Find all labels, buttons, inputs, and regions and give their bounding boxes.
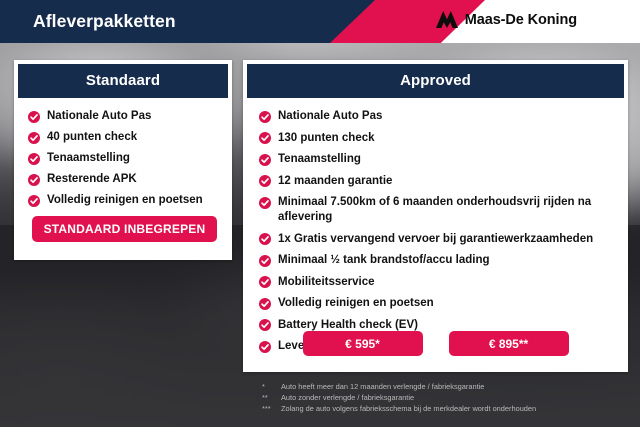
check-circle-icon [259, 132, 271, 144]
list-item: 12 maanden garantie [259, 174, 628, 189]
list-item: Volledig reinigen en poetsen [259, 296, 628, 311]
check-circle-icon [28, 111, 40, 123]
feature-label: Volledig reinigen en poetsen [47, 193, 203, 208]
page-header: Afleverpakketten Maas-De Koning [0, 0, 640, 43]
list-item: Tenaamstelling [28, 151, 232, 166]
list-item: Tenaamstelling [259, 152, 628, 167]
approved-package-card: Approved Nationale Auto Pas 130 punten c… [243, 60, 628, 372]
feature-label: Volledig reinigen en poetsen [278, 296, 434, 311]
check-circle-icon [259, 111, 271, 123]
list-item: Minimaal 7.500km of 6 maanden onderhouds… [259, 195, 628, 225]
standard-feature-list: Nationale Auto Pas 40 punten check Tenaa… [14, 98, 232, 208]
approved-feature-list: Nationale Auto Pas 130 punten check Tena… [243, 98, 628, 354]
check-circle-icon [28, 132, 40, 144]
page-title: Afleverpakketten [33, 11, 176, 32]
maas-de-koning-m-logo-icon [436, 11, 458, 28]
standard-package-card: Standaard Nationale Auto Pas 40 punten c… [14, 60, 232, 260]
feature-label: Mobiliteitsservice [278, 275, 375, 290]
footnote-triple-asterisk: *** Zolang de auto volgens fabrieksschem… [262, 403, 632, 414]
feature-label: Nationale Auto Pas [278, 109, 382, 124]
standard-card-heading: Standaard [18, 64, 228, 98]
feature-label: 130 punten check [278, 131, 375, 146]
brand-lockup: Maas-De Koning [436, 11, 577, 28]
list-item: 40 punten check [28, 130, 232, 145]
check-circle-icon [28, 153, 40, 165]
feature-label: 1x Gratis vervangend vervoer bij garanti… [278, 232, 593, 247]
list-item: 1x Gratis vervangend vervoer bij garanti… [259, 232, 628, 247]
check-circle-icon [28, 195, 40, 207]
check-circle-icon [259, 233, 271, 245]
approved-card-heading: Approved [247, 64, 624, 98]
feature-label: Nationale Auto Pas [47, 109, 151, 124]
footnote-text: Auto heeft meer dan 12 maanden verlengde… [281, 381, 484, 392]
price-button-595[interactable]: € 595* [303, 331, 423, 356]
feature-label: Resterende APK [47, 172, 137, 187]
feature-label: 12 maanden garantie [278, 174, 392, 189]
check-circle-icon [28, 174, 40, 186]
list-item: Resterende APK [28, 172, 232, 187]
check-circle-icon [259, 276, 271, 288]
check-circle-icon [259, 255, 271, 267]
footnote-single-asterisk: * Auto heeft meer dan 12 maanden verleng… [262, 381, 632, 392]
list-item: Nationale Auto Pas [28, 109, 232, 124]
standard-included-button[interactable]: STANDAARD INBEGREPEN [32, 216, 217, 242]
list-item: Volledig reinigen en poetsen [28, 193, 232, 208]
feature-label: Minimaal ½ tank brandstof/accu lading [278, 253, 490, 268]
check-circle-icon [259, 298, 271, 310]
feature-label: 40 punten check [47, 130, 137, 145]
list-item: Mobiliteitsservice [259, 275, 628, 290]
feature-label: Minimaal 7.500km of 6 maanden onderhouds… [278, 195, 608, 225]
footnote-block: * Auto heeft meer dan 12 maanden verleng… [262, 381, 632, 414]
check-circle-icon [259, 319, 271, 331]
list-item: Nationale Auto Pas [259, 109, 628, 124]
list-item: 130 punten check [259, 131, 628, 146]
list-item: Minimaal ½ tank brandstof/accu lading [259, 253, 628, 268]
footnote-text: Auto zonder verlengde / fabrieksgarantie [281, 392, 414, 403]
price-button-895[interactable]: € 895** [449, 331, 569, 356]
feature-label: Tenaamstelling [278, 152, 361, 167]
price-button-row: € 595* € 895** [243, 331, 628, 356]
footnote-text: Zolang de auto volgens fabrieksschema bi… [281, 403, 536, 414]
slide-root: Afleverpakketten Maas-De Koning Standaar… [0, 0, 640, 427]
check-circle-icon [259, 154, 271, 166]
check-circle-icon [259, 197, 271, 209]
brand-name: Maas-De Koning [465, 12, 577, 28]
check-circle-icon [259, 175, 271, 187]
footnote-marker: ** [262, 392, 275, 403]
footnote-marker: * [262, 381, 275, 392]
footnote-marker: *** [262, 403, 275, 414]
footnote-double-asterisk: ** Auto zonder verlengde / fabrieksgaran… [262, 392, 632, 403]
feature-label: Tenaamstelling [47, 151, 130, 166]
